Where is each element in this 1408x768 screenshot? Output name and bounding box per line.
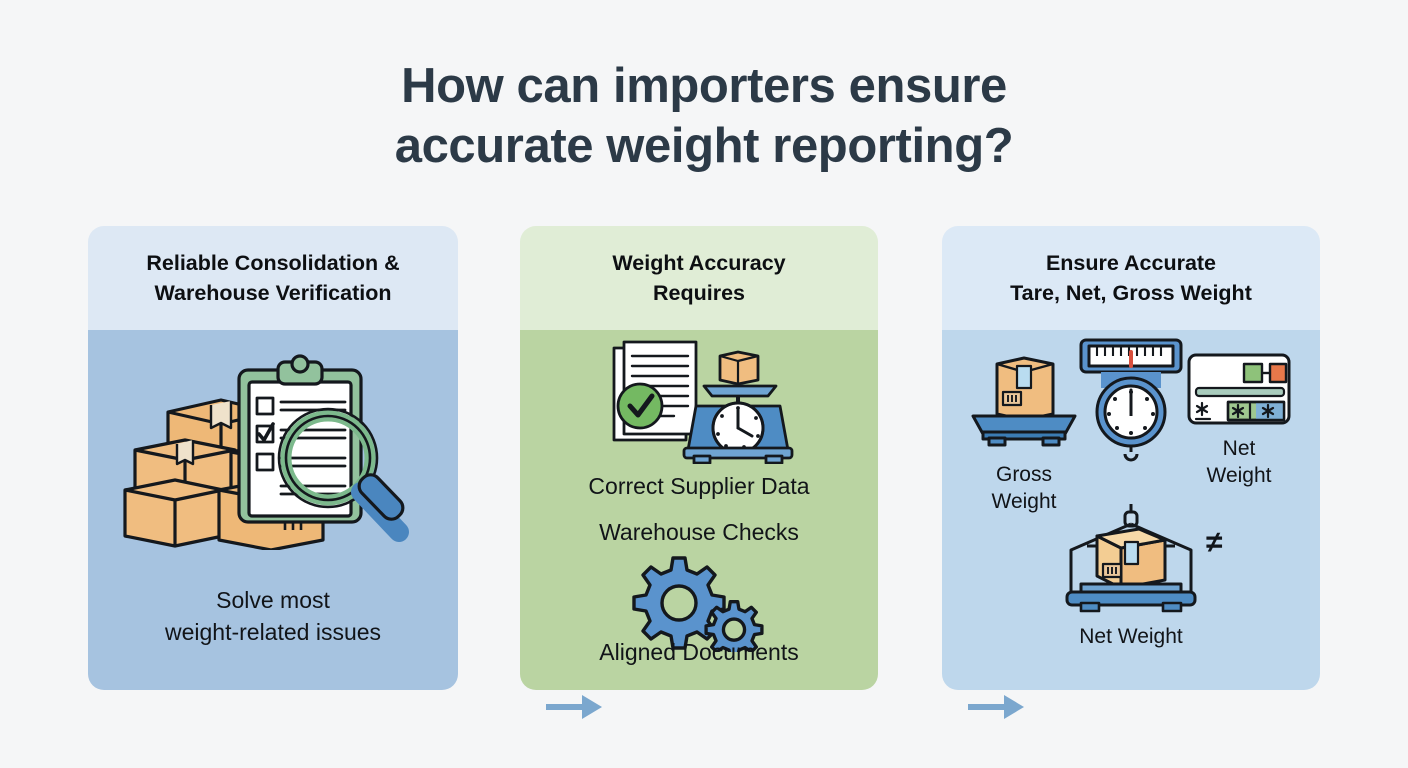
panel-consolidation-header-line-1: Reliable Consolidation & [146, 248, 399, 278]
panel-tare-net-gross-header: Ensure Accurate Tare, Net, Gross Weight [942, 226, 1320, 330]
panel-consolidation-caption-line-2: weight-related issues [88, 616, 458, 648]
panel-consolidation-header-line-2: Warehouse Verification [146, 278, 399, 308]
box-on-platform-scale-icon [967, 352, 1081, 452]
boxes-clipboard-magnifier-icon [123, 350, 423, 555]
hanging-dial-scale-icon [1075, 334, 1187, 467]
panel-consolidation-body: Solve most weight-related issues [88, 330, 458, 690]
gross-weight-label-line-1: Gross [964, 461, 1084, 488]
panels-row: Reliable Consolidation & Warehouse Verif… [88, 226, 1320, 690]
gross-weight-group: Gross Weight [964, 352, 1084, 515]
page-title: How can importers ensure accurate weight… [0, 56, 1408, 176]
panel-weight-accuracy-body: Correct Supplier Data Warehouse Checks A… [520, 330, 878, 690]
panel-tare-net-gross-body: Gross Weight [942, 330, 1320, 690]
panel-consolidation-header: Reliable Consolidation & Warehouse Verif… [88, 226, 458, 330]
panel-weight-accuracy-item-3: Aligned Documents [520, 636, 878, 668]
panel-weight-accuracy[interactable]: Weight Accuracy Requires [520, 226, 878, 690]
panel-tare-net-gross[interactable]: Ensure Accurate Tare, Net, Gross Weight [942, 226, 1320, 690]
slung-box-on-scale-icon [1051, 502, 1211, 614]
net-weight-card-label-line-1: Net [1176, 435, 1302, 462]
panel-consolidation[interactable]: Reliable Consolidation & Warehouse Verif… [88, 226, 458, 690]
panel-weight-accuracy-header-line-2: Requires [612, 278, 785, 308]
panel-weight-accuracy-header: Weight Accuracy Requires [520, 226, 878, 330]
net-weight-card-label: Net Weight [1176, 435, 1302, 489]
net-weight-sling-group: Net Weight [1051, 502, 1211, 650]
arrow-panel2-to-panel3 [968, 692, 1026, 722]
panel-weight-accuracy-item-2: Warehouse Checks [520, 516, 878, 548]
page-title-line-1: How can importers ensure [0, 56, 1408, 116]
documents-check-scale-icon [604, 338, 794, 469]
shipping-label-card-icon [1186, 352, 1292, 426]
net-weight-card-group: Net Weight [1176, 352, 1302, 489]
arrow-panel1-to-panel2 [546, 692, 604, 722]
panel-tare-net-gross-header-line-2: Tare, Net, Gross Weight [1010, 278, 1252, 308]
net-weight-sling-label: Net Weight [1051, 623, 1211, 650]
panel-tare-net-gross-header-line-1: Ensure Accurate [1010, 248, 1252, 278]
panel-weight-accuracy-item-1: Correct Supplier Data [520, 470, 878, 502]
panel-consolidation-caption-line-1: Solve most [88, 584, 458, 616]
panel-consolidation-caption: Solve most weight-related issues [88, 584, 458, 648]
page-title-line-2: accurate weight reporting? [0, 116, 1408, 176]
panel-weight-accuracy-header-line-1: Weight Accuracy [612, 248, 785, 278]
net-weight-card-label-line-2: Weight [1176, 462, 1302, 489]
